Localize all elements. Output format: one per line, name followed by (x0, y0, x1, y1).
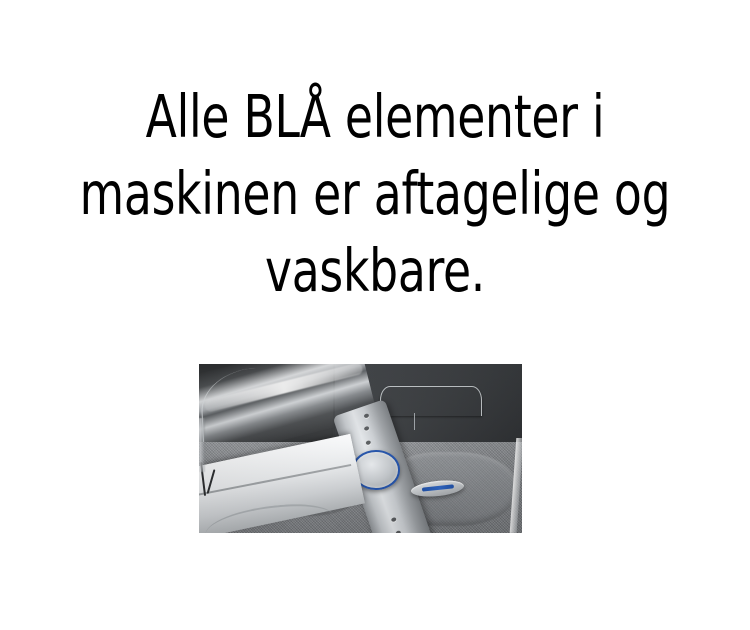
photo-canvas (199, 364, 522, 533)
blue-stripe (421, 484, 453, 491)
title-line-2: maskinen er aftagelige og (53, 155, 698, 232)
wire-rail (380, 386, 482, 416)
dishwasher-interior-photo (199, 364, 522, 533)
title-line-3: vaskbare. (53, 232, 698, 309)
spray-hole (396, 530, 402, 533)
title-line-1: Alle BLÅ elementer i (53, 78, 698, 155)
presentation-slide: Alle BLÅ elementer i maskinen er aftagel… (0, 0, 750, 630)
tub-left-trim (199, 418, 205, 472)
spray-hole (364, 426, 370, 431)
spray-hole (366, 440, 372, 445)
spray-hole (391, 517, 397, 522)
slide-title: Alle BLÅ elementer i maskinen er aftagel… (0, 78, 750, 309)
spray-hole (363, 413, 369, 418)
wire-rail-stem (414, 413, 415, 430)
